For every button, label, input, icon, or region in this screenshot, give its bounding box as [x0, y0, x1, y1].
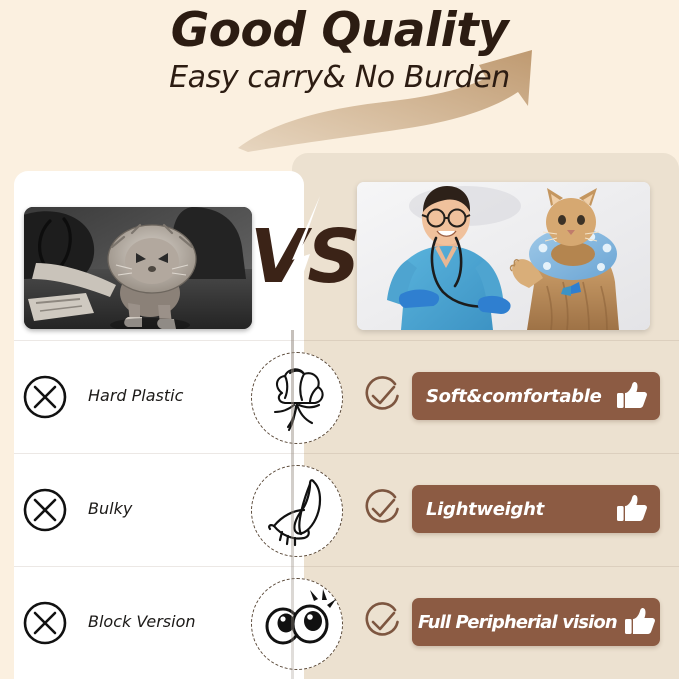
feature-icon-circle — [251, 352, 343, 444]
product-comparison-infographic: Good Quality Easy carry& No Burden — [0, 0, 679, 679]
row-divider — [14, 453, 679, 454]
page-subtitle: Easy carry& No Burden — [0, 60, 679, 95]
pro-feature-badge[interactable]: Soft&comfortable — [412, 372, 660, 420]
header-banner: Good Quality Easy carry& No Burden — [0, 0, 679, 152]
thumbs-up-icon — [616, 493, 650, 525]
comparison-row: Bulky Lightweight — [0, 453, 679, 566]
vet-with-cat-soft-collar-photo — [357, 182, 650, 330]
feather-icon — [252, 466, 342, 556]
check-circle-icon — [360, 374, 404, 418]
con-feature-label: Bulky — [88, 495, 238, 523]
cartoon-eyes-icon — [252, 579, 342, 669]
row-divider — [14, 340, 679, 341]
pro-feature-label: Full Peripherial vision — [418, 612, 617, 633]
check-circle-icon — [360, 600, 404, 644]
center-vertical-divider — [291, 330, 294, 679]
check-circle-icon — [360, 487, 404, 531]
x-circle-icon — [22, 600, 68, 646]
x-circle-icon — [22, 487, 68, 533]
pro-feature-badge[interactable]: Lightweight — [412, 485, 660, 533]
thumbs-up-icon — [624, 606, 658, 638]
feature-icon-circle — [251, 578, 343, 670]
pro-feature-badge[interactable]: Full Peripherial vision — [412, 598, 660, 646]
feature-icon-circle — [251, 465, 343, 557]
con-feature-label: Block Version — [88, 608, 238, 636]
vet-clinic-cat-hard-cone-photo — [24, 207, 252, 329]
x-circle-icon — [22, 374, 68, 420]
comparison-row: Block Version Full Peripherial vision — [0, 566, 679, 679]
pro-feature-label: Soft&comfortable — [426, 386, 602, 407]
cotton-flower-icon — [252, 353, 342, 443]
pro-feature-label: Lightweight — [426, 499, 544, 520]
row-divider — [14, 566, 679, 567]
versus-badge: VS — [248, 196, 360, 318]
thumbs-up-icon — [616, 380, 650, 412]
page-title: Good Quality — [0, 6, 679, 55]
comparison-row: Hard Plastic — [0, 340, 679, 453]
con-feature-label: Hard Plastic — [88, 382, 238, 410]
